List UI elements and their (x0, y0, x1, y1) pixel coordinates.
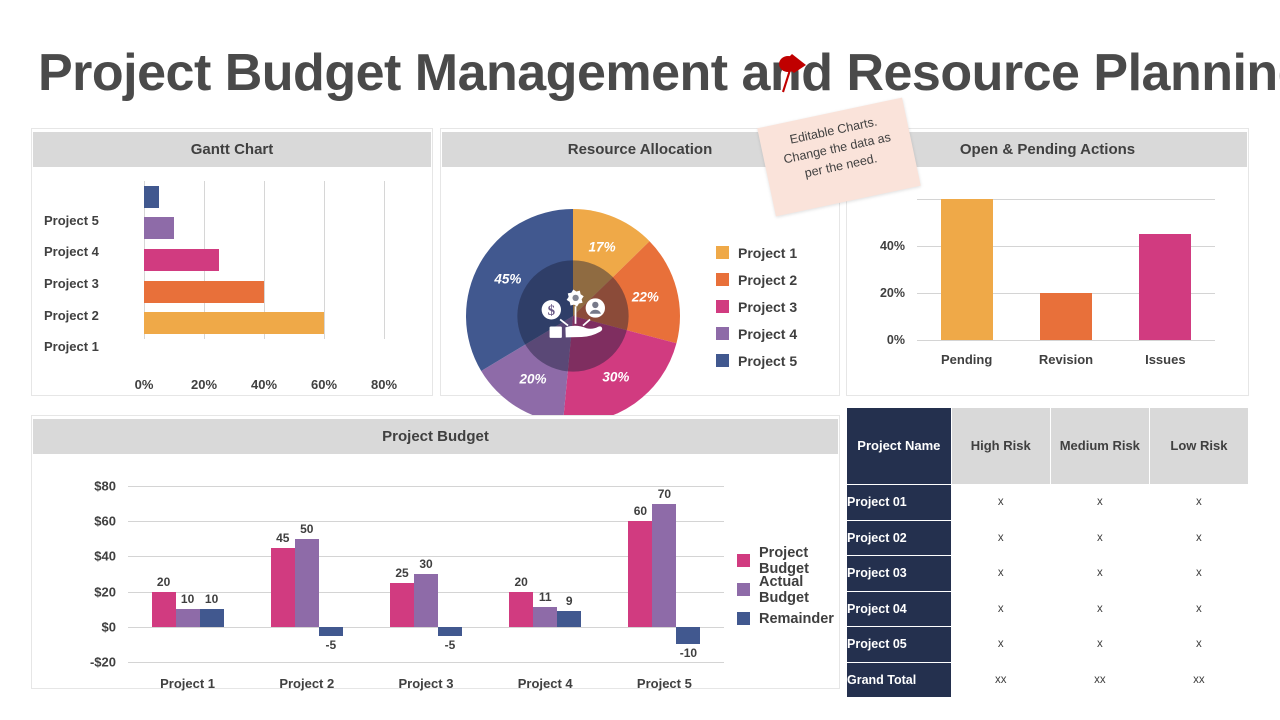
risk-table-project-name: Grand Total (847, 662, 952, 698)
budget-data-label: 50 (286, 522, 328, 536)
resource-legend-item[interactable]: Project 1 (716, 239, 797, 266)
risk-table-project-name: Project 03 (847, 556, 952, 592)
risk-table-row: Project 03xxx (847, 556, 1249, 592)
gantt-category-label: Project 4 (44, 244, 144, 259)
budget-data-label: -5 (310, 638, 352, 652)
budget-bar[interactable] (676, 627, 700, 645)
risk-table-header-medium-risk: Medium Risk (1050, 408, 1149, 485)
budget-bar[interactable] (414, 574, 438, 627)
budget-data-label: 20 (500, 575, 542, 589)
budget-data-label: -10 (667, 646, 709, 660)
gantt-x-tick-label: 80% (371, 377, 397, 392)
gantt-category-label: Project 2 (44, 308, 144, 323)
budget-data-label: 10 (191, 592, 233, 606)
risk-table-project-name: Project 05 (847, 627, 952, 663)
actions-gridline (917, 340, 1215, 341)
budget-y-tick-label: $0 (102, 619, 116, 634)
budget-category-label: Project 1 (128, 676, 247, 691)
resource-legend-item[interactable]: Project 2 (716, 266, 797, 293)
actions-bar[interactable] (941, 199, 993, 340)
gantt-category-label: Project 5 (44, 213, 144, 228)
budget-gridline (128, 662, 724, 663)
risk-table-cell: x (951, 591, 1050, 627)
resource-legend-label: Project 4 (738, 326, 797, 342)
budget-bar[interactable] (295, 539, 319, 627)
risk-table-element: Project NameHigh RiskMedium RiskLow Risk… (846, 407, 1249, 698)
budget-bar[interactable] (557, 611, 581, 627)
budget-data-label: 20 (143, 575, 185, 589)
risk-table-row: Project 01xxx (847, 485, 1249, 521)
legend-swatch-icon (716, 327, 729, 340)
budget-y-tick-label: $60 (94, 514, 116, 529)
budget-data-label: 30 (405, 557, 447, 571)
budget-bar[interactable] (319, 627, 343, 636)
resource-pie-chart: $17%22%30%20%45% (466, 209, 680, 423)
risk-table-project-name: Project 04 (847, 591, 952, 627)
resource-slice-value-label: 30% (602, 370, 629, 385)
risk-table-cell: x (1149, 591, 1248, 627)
budget-legend-label: Actual Budget (759, 574, 839, 606)
budget-legend-item[interactable]: Project Budget (737, 546, 839, 575)
budget-bar[interactable] (200, 609, 224, 627)
legend-swatch-icon (716, 273, 729, 286)
actions-category-label: Issues (1116, 352, 1215, 367)
gantt-bar[interactable] (144, 312, 324, 334)
risk-table-row: Grand Totalxxxxxx (847, 662, 1249, 698)
risk-table-project-name: Project 01 (847, 485, 952, 521)
resource-legend-item[interactable]: Project 4 (716, 320, 797, 347)
gantt-bar[interactable] (144, 249, 219, 271)
legend-swatch-icon (716, 246, 729, 259)
gantt-bar[interactable] (144, 217, 174, 239)
budget-legend-item[interactable]: Remainder (737, 604, 839, 633)
budget-legend-item[interactable]: Actual Budget (737, 575, 839, 604)
actions-bar[interactable] (1139, 234, 1191, 340)
panel-project-budget: Project Budget -$20$0$20$40$60$80 201010… (31, 415, 840, 689)
actions-plot-area (917, 199, 1215, 340)
budget-legend-label: Remainder (759, 611, 834, 627)
gantt-plot-area (144, 181, 414, 339)
pushpin-icon (770, 52, 810, 100)
page-title: Project Budget Management and Resource P… (38, 40, 1218, 106)
risk-table-project-name: Project 02 (847, 520, 952, 556)
gantt-chart-body: Project 1Project 2Project 3Project 4Proj… (32, 167, 432, 395)
budget-category-label: Project 2 (247, 676, 366, 691)
risk-table-body: Project 01xxxProject 02xxxProject 03xxxP… (847, 485, 1249, 698)
risk-table-cell: x (951, 556, 1050, 592)
actions-chart-body: 0%20%40% PendingRevisionIssues (847, 167, 1248, 395)
risk-table-cell: xx (951, 662, 1050, 698)
risk-table-row: Project 05xxx (847, 627, 1249, 663)
legend-swatch-icon (716, 354, 729, 367)
risk-table-header-low-risk: Low Risk (1149, 408, 1248, 485)
budget-bar[interactable] (176, 609, 200, 627)
budget-y-tick-label: -$20 (90, 655, 116, 670)
budget-legend: Project BudgetActual BudgetRemainder (737, 546, 839, 633)
risk-table-cell: x (951, 485, 1050, 521)
panel-budget-title: Project Budget (33, 419, 838, 454)
panel-gantt-chart: Gantt Chart Project 1Project 2Project 3P… (31, 128, 433, 396)
budget-bar[interactable] (438, 627, 462, 636)
risk-table-row: Project 02xxx (847, 520, 1249, 556)
budget-bar[interactable] (628, 521, 652, 627)
legend-swatch-icon (737, 583, 750, 596)
gantt-x-tick-label: 60% (311, 377, 337, 392)
resource-center-overlay (517, 260, 628, 371)
budget-chart-body: -$20$0$20$40$60$80 2010104550-52530-5201… (32, 454, 839, 688)
risk-table-header-row: Project NameHigh RiskMedium RiskLow Risk (847, 408, 1249, 485)
risk-summary-table: Project NameHigh RiskMedium RiskLow Risk… (846, 407, 1249, 698)
resource-pie-svg: $ (466, 209, 680, 423)
gantt-x-tick-label: 40% (251, 377, 277, 392)
actions-y-tick-label: 40% (880, 239, 905, 253)
risk-table-cell: x (1149, 556, 1248, 592)
actions-bar[interactable] (1040, 293, 1092, 340)
legend-swatch-icon (737, 612, 750, 625)
budget-bar[interactable] (390, 583, 414, 627)
gantt-bar[interactable] (144, 281, 264, 303)
resource-legend-label: Project 3 (738, 299, 797, 315)
budget-category-label: Project 4 (486, 676, 605, 691)
risk-table-cell: x (1050, 556, 1149, 592)
risk-table-header-high-risk: High Risk (951, 408, 1050, 485)
budget-data-label: 70 (643, 487, 685, 501)
risk-table-cell: x (1149, 485, 1248, 521)
legend-swatch-icon (737, 554, 750, 567)
budget-category-label: Project 5 (605, 676, 724, 691)
budget-gridline (128, 486, 724, 487)
gantt-category-label: Project 3 (44, 276, 144, 291)
actions-category-label: Pending (917, 352, 1016, 367)
budget-plot-area: 2010104550-52530-5201196070-10 (128, 486, 724, 662)
gantt-x-tick-label: 20% (191, 377, 217, 392)
budget-bar[interactable] (271, 548, 295, 627)
slide-canvas: Project Budget Management and Resource P… (0, 0, 1280, 720)
budget-bar[interactable] (533, 607, 557, 626)
resource-slice-value-label: 22% (632, 289, 659, 304)
actions-y-tick-label: 20% (880, 286, 905, 300)
risk-table-row: Project 04xxx (847, 591, 1249, 627)
budget-legend-label: Project Budget (759, 545, 839, 577)
resource-legend-label: Project 1 (738, 245, 797, 261)
risk-table-cell: x (1050, 520, 1149, 556)
resource-slice-value-label: 17% (589, 239, 616, 254)
panel-gantt-title: Gantt Chart (33, 132, 431, 167)
budget-category-label: Project 3 (366, 676, 485, 691)
budget-y-tick-label: $20 (94, 584, 116, 599)
risk-table-head: Project NameHigh RiskMedium RiskLow Risk (847, 408, 1249, 485)
risk-table-cell: xx (1050, 662, 1149, 698)
resource-legend-item[interactable]: Project 3 (716, 293, 797, 320)
budget-y-tick-label: $40 (94, 549, 116, 564)
risk-table-cell: x (951, 627, 1050, 663)
legend-swatch-icon (716, 300, 729, 313)
gantt-category-label: Project 1 (44, 339, 144, 354)
actions-category-label: Revision (1016, 352, 1115, 367)
risk-table-cell: x (951, 520, 1050, 556)
gantt-gridline (384, 181, 385, 339)
risk-table-cell: x (1149, 627, 1248, 663)
actions-y-tick-label: 0% (887, 333, 905, 347)
risk-table-cell: xx (1149, 662, 1248, 698)
gantt-x-tick-label: 0% (135, 377, 154, 392)
resource-legend: Project 1Project 2Project 3Project 4Proj… (716, 239, 797, 374)
budget-data-label: -5 (429, 638, 471, 652)
risk-table-header-project-name: Project Name (847, 408, 952, 485)
risk-table-cell: x (1149, 520, 1248, 556)
budget-bar[interactable] (652, 504, 676, 627)
risk-table-cell: x (1050, 591, 1149, 627)
risk-table-cell: x (1050, 485, 1149, 521)
budget-y-tick-label: $80 (94, 479, 116, 494)
resource-legend-item[interactable]: Project 5 (716, 347, 797, 374)
resource-legend-label: Project 5 (738, 353, 797, 369)
gantt-gridline (324, 181, 325, 339)
risk-table-cell: x (1050, 627, 1149, 663)
resource-slice-value-label: 45% (494, 272, 521, 287)
gantt-bar[interactable] (144, 186, 159, 208)
resource-slice-value-label: 20% (520, 372, 547, 387)
budget-data-label: 9 (548, 594, 590, 608)
svg-text:$: $ (548, 303, 556, 319)
resource-legend-label: Project 2 (738, 272, 797, 288)
budget-gridline (128, 627, 724, 628)
